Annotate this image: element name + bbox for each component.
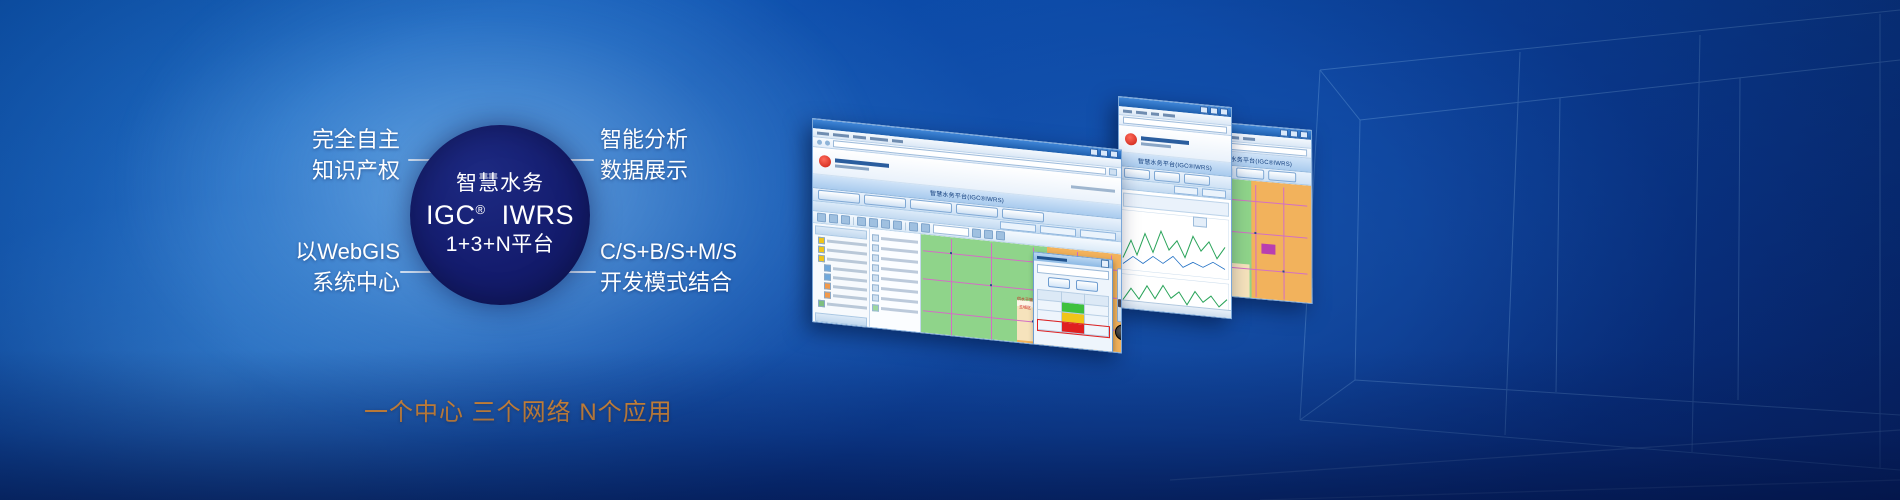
map-node: [1282, 270, 1284, 272]
dialog-body: [1034, 261, 1112, 341]
go-button[interactable]: [1109, 168, 1117, 176]
nav-tab[interactable]: [1184, 173, 1210, 186]
nav-tab[interactable]: [1124, 168, 1150, 181]
menu-item[interactable]: [1151, 112, 1159, 116]
feature-bottom-right: C/S+B/S+M/S 开发模式结合: [600, 236, 737, 298]
maximize-icon[interactable]: [1210, 107, 1218, 115]
map-node: [1254, 232, 1256, 234]
burst-analysis-dialog[interactable]: [1033, 251, 1113, 353]
menu-item[interactable]: [1243, 136, 1255, 140]
vertical-slider[interactable]: [1117, 268, 1121, 323]
feature-top-right: 智能分析 数据展示: [600, 124, 688, 186]
tagline: 一个中心 三个网络 N个应用: [364, 392, 673, 427]
menu-item[interactable]: [1123, 109, 1132, 113]
feature-top-left-line2: 知识产权: [300, 155, 400, 186]
nav-tab[interactable]: [1268, 170, 1296, 182]
feature-top-left: 完全自主 知识产权: [300, 124, 400, 186]
menu-item[interactable]: [817, 131, 829, 135]
nav-tab[interactable]: [1154, 171, 1180, 184]
feature-top-right-line1: 智能分析: [600, 124, 688, 155]
toolbar-divider: [853, 217, 854, 225]
menu-item[interactable]: [1231, 135, 1239, 139]
dialog-clear-button[interactable]: [1076, 280, 1098, 292]
dialog-query-button[interactable]: [1048, 277, 1070, 289]
feature-top-left-line1: 完全自主: [300, 124, 400, 155]
menu-item[interactable]: [870, 136, 888, 141]
zoom-in-icon[interactable]: [857, 217, 866, 227]
attribute-row: [818, 329, 867, 337]
measure-icon[interactable]: [909, 222, 918, 232]
map-node[interactable]: [950, 252, 952, 254]
hero-banner: 完全自主 知识产权 以WebGIS 系统中心 智能分析 数据展示 C/S+B/S…: [0, 0, 1900, 500]
brand-text: [1141, 136, 1189, 150]
hub-platform-label: 1+3+N平台: [446, 233, 555, 258]
hub-title: 智慧水务: [456, 172, 544, 197]
pan-icon[interactable]: [881, 219, 890, 229]
slider-knob[interactable]: [1118, 299, 1121, 308]
dialog-result-table: [1037, 289, 1109, 337]
feature-bottom-right-line1: C/S+B/S+M/S: [600, 236, 737, 267]
nav-tab[interactable]: [1236, 167, 1264, 179]
menu-item[interactable]: [853, 135, 866, 139]
close-icon[interactable]: [1110, 150, 1118, 158]
brand-text: [835, 158, 889, 172]
window-middle[interactable]: 智慧水务平台(IGC®IWRS): [1118, 96, 1232, 319]
map-node[interactable]: [990, 284, 992, 286]
tool-list-panel[interactable]: [870, 229, 921, 354]
window-front-bottom-charts: [813, 349, 1121, 353]
attribute-panel-header: [815, 312, 867, 326]
window-middle-chart-area[interactable]: [1119, 189, 1231, 319]
dialog-close-icon[interactable]: [1101, 259, 1109, 268]
sub-tab[interactable]: [1174, 185, 1198, 195]
sub-tab[interactable]: [1202, 188, 1226, 198]
layers-icon[interactable]: [984, 229, 993, 239]
menu-item[interactable]: [1163, 113, 1175, 117]
minimize-icon[interactable]: [1200, 106, 1208, 114]
toolbar-divider: [905, 222, 906, 230]
chart-legend-box: [1193, 216, 1207, 227]
close-icon[interactable]: [1220, 108, 1228, 116]
hub-product-igc: IGC: [426, 200, 476, 230]
menu-item[interactable]: [1136, 110, 1147, 114]
layer-tree-panel[interactable]: [813, 223, 870, 353]
legend-icon[interactable]: [996, 231, 1005, 241]
close-icon[interactable]: [1300, 131, 1308, 139]
attribute-row: [818, 339, 867, 347]
maximize-icon[interactable]: [1290, 130, 1298, 138]
gis-map-canvas[interactable]: 供水干管 主城区: [921, 234, 1121, 353]
attribute-row: [818, 334, 867, 342]
feature-bottom-left: 以WebGIS 系统中心: [292, 236, 400, 298]
print-icon[interactable]: [841, 215, 850, 225]
map-label-red-2: 主城区: [1019, 304, 1031, 311]
attribute-row: [818, 349, 867, 354]
forward-icon[interactable]: [825, 140, 830, 146]
tool-item[interactable]: [872, 304, 918, 316]
feature-bottom-left-line2: 系统中心: [292, 267, 400, 298]
minimize-icon[interactable]: [1090, 148, 1098, 156]
feature-bottom-right-line2: 开发模式结合: [600, 267, 737, 298]
maximize-icon[interactable]: [1100, 149, 1108, 157]
back-icon[interactable]: [817, 140, 822, 146]
registered-trademark-icon: ®: [475, 202, 485, 217]
company-logo-icon: [1125, 133, 1137, 146]
brand-slogan: [1071, 185, 1115, 192]
map-region-orange: [1251, 181, 1311, 304]
map-road: [991, 243, 992, 353]
select-icon[interactable]: [893, 220, 902, 230]
menu-item[interactable]: [833, 133, 849, 138]
zoom-out-icon[interactable]: [869, 218, 878, 228]
map-highlight-block: [1261, 244, 1275, 255]
menu-item[interactable]: [892, 139, 903, 143]
minimize-icon[interactable]: [1280, 129, 1288, 137]
company-logo-icon: [819, 155, 831, 168]
attribute-row: [818, 344, 867, 352]
search-icon[interactable]: [972, 228, 981, 238]
identify-icon[interactable]: [921, 223, 930, 233]
line-chart-1: [1121, 209, 1229, 280]
central-hub-circle: 智慧水务 IGC® IWRS 1+3+N平台: [410, 125, 590, 305]
map-road: [951, 239, 952, 353]
open-icon[interactable]: [817, 213, 826, 223]
window-front[interactable]: 智慧水务平台(IGC®IWRS): [812, 118, 1122, 353]
feature-bottom-left-line1: 以WebGIS: [292, 236, 400, 267]
map-label-red: 供水干管: [1017, 296, 1033, 304]
hub-product-name: IGC® IWRS: [426, 200, 574, 232]
floor-gradient: [0, 350, 1900, 500]
save-icon[interactable]: [829, 214, 838, 224]
hub-product-iwrs: IWRS: [502, 200, 575, 230]
feature-top-right-line2: 数据展示: [600, 155, 688, 186]
